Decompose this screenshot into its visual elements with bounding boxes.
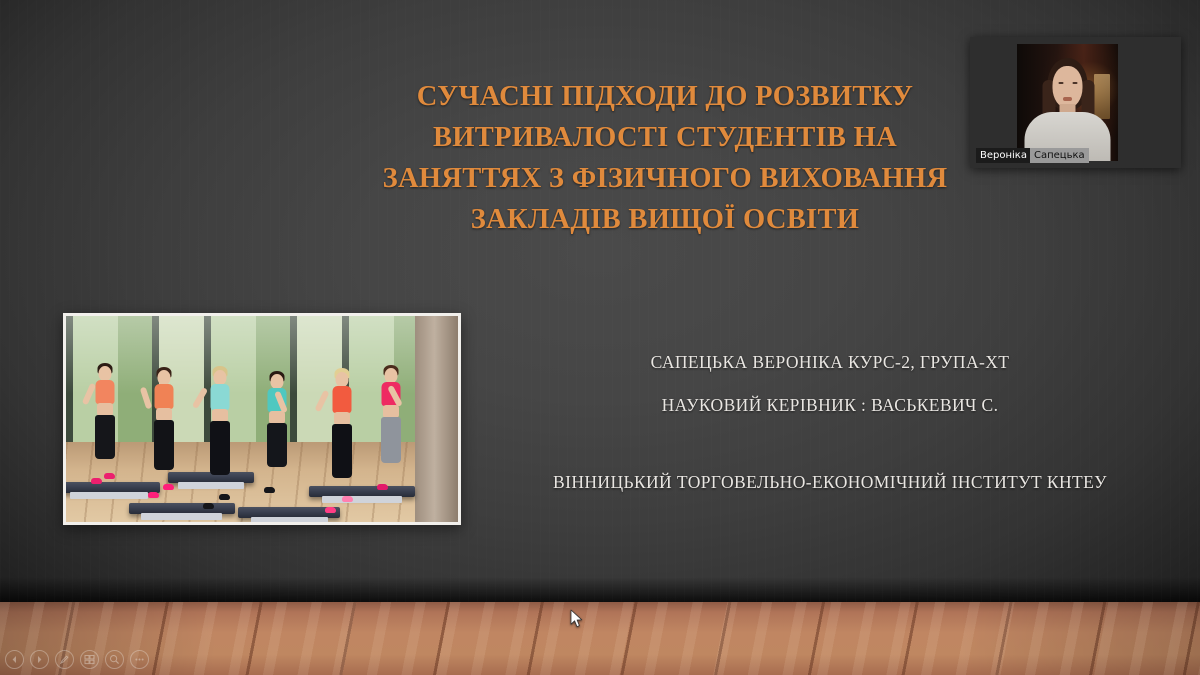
slide-title-line-3: ЗАНЯТТЯХ З ФІЗИЧНОГО ВИХОВАННЯ — [250, 158, 1080, 199]
more-options-button[interactable] — [130, 650, 149, 669]
photo-figure — [325, 368, 359, 510]
pen-icon — [59, 654, 70, 665]
participant-last-name: Сапецька — [1030, 148, 1089, 163]
webcam-video-feed[interactable] — [1017, 44, 1118, 161]
chevron-right-icon — [35, 655, 44, 664]
author-line: САПЕЦЬКА ВЕРОНІКА КУРС-2, ГРУПА-ХТ — [500, 352, 1160, 373]
photo-figure — [376, 365, 406, 487]
institution-line: ВІННИЦЬКИЙ ТОРГОВЕЛЬНО-ЕКОНОМІЧНИЙ ІНСТИ… — [500, 472, 1160, 493]
magnifier-icon — [109, 654, 120, 665]
photo-figure — [90, 363, 120, 481]
grid-slides-icon — [84, 654, 95, 665]
photo-figure — [148, 367, 180, 495]
pen-tool-button[interactable] — [55, 650, 74, 669]
photo-figure — [262, 371, 292, 491]
previous-slide-button[interactable] — [5, 650, 24, 669]
zoom-button[interactable] — [105, 650, 124, 669]
photo-pillar — [415, 316, 458, 522]
next-slide-button[interactable] — [30, 650, 49, 669]
slide-body-text: САПЕЦЬКА ВЕРОНІКА КУРС-2, ГРУПА-ХТ НАУКО… — [500, 352, 1160, 493]
all-slides-button[interactable] — [80, 650, 99, 669]
ellipsis-icon — [134, 654, 145, 665]
participant-mouth — [1063, 97, 1072, 101]
photo-figure — [203, 366, 237, 506]
participant-face — [1053, 66, 1083, 108]
webcam-participant-figure — [1017, 44, 1118, 161]
participant-name-label: Вероніка Сапецька — [976, 148, 1089, 163]
wall-bottom-shadow — [0, 577, 1200, 603]
slide-background-floor — [0, 602, 1200, 675]
slide-title: СУЧАСНІ ПІДХОДИ ДО РОЗВИТКУ ВИТРИВАЛОСТІ… — [250, 76, 1080, 240]
mouse-pointer — [570, 609, 584, 629]
step-platform — [66, 482, 160, 493]
slide-photo-frame — [63, 313, 461, 525]
participant-eye — [1072, 82, 1077, 84]
slide-title-line-4: ЗАКЛАДІВ ВИЩОЇ ОСВІТИ — [250, 199, 1080, 240]
chevron-left-icon — [10, 655, 19, 664]
presentation-screen: СУЧАСНІ ПІДХОДИ ДО РОЗВИТКУ ВИТРИВАЛОСТІ… — [0, 0, 1200, 675]
supervisor-line: НАУКОВИЙ КЕРІВНИК : ВАСЬКЕВИЧ С. — [500, 395, 1160, 416]
presenter-toolbar[interactable] — [5, 650, 149, 669]
participant-first-name: Вероніка — [976, 148, 1030, 163]
step-aerobics-photo — [66, 316, 458, 522]
participant-eye — [1058, 82, 1063, 84]
webcam-overlay-panel[interactable]: Вероніка Сапецька — [970, 37, 1181, 168]
slide-title-line-1: СУЧАСНІ ПІДХОДИ ДО РОЗВИТКУ — [250, 76, 1080, 117]
slide-title-line-2: ВИТРИВАЛОСТІ СТУДЕНТІВ НА — [250, 117, 1080, 158]
